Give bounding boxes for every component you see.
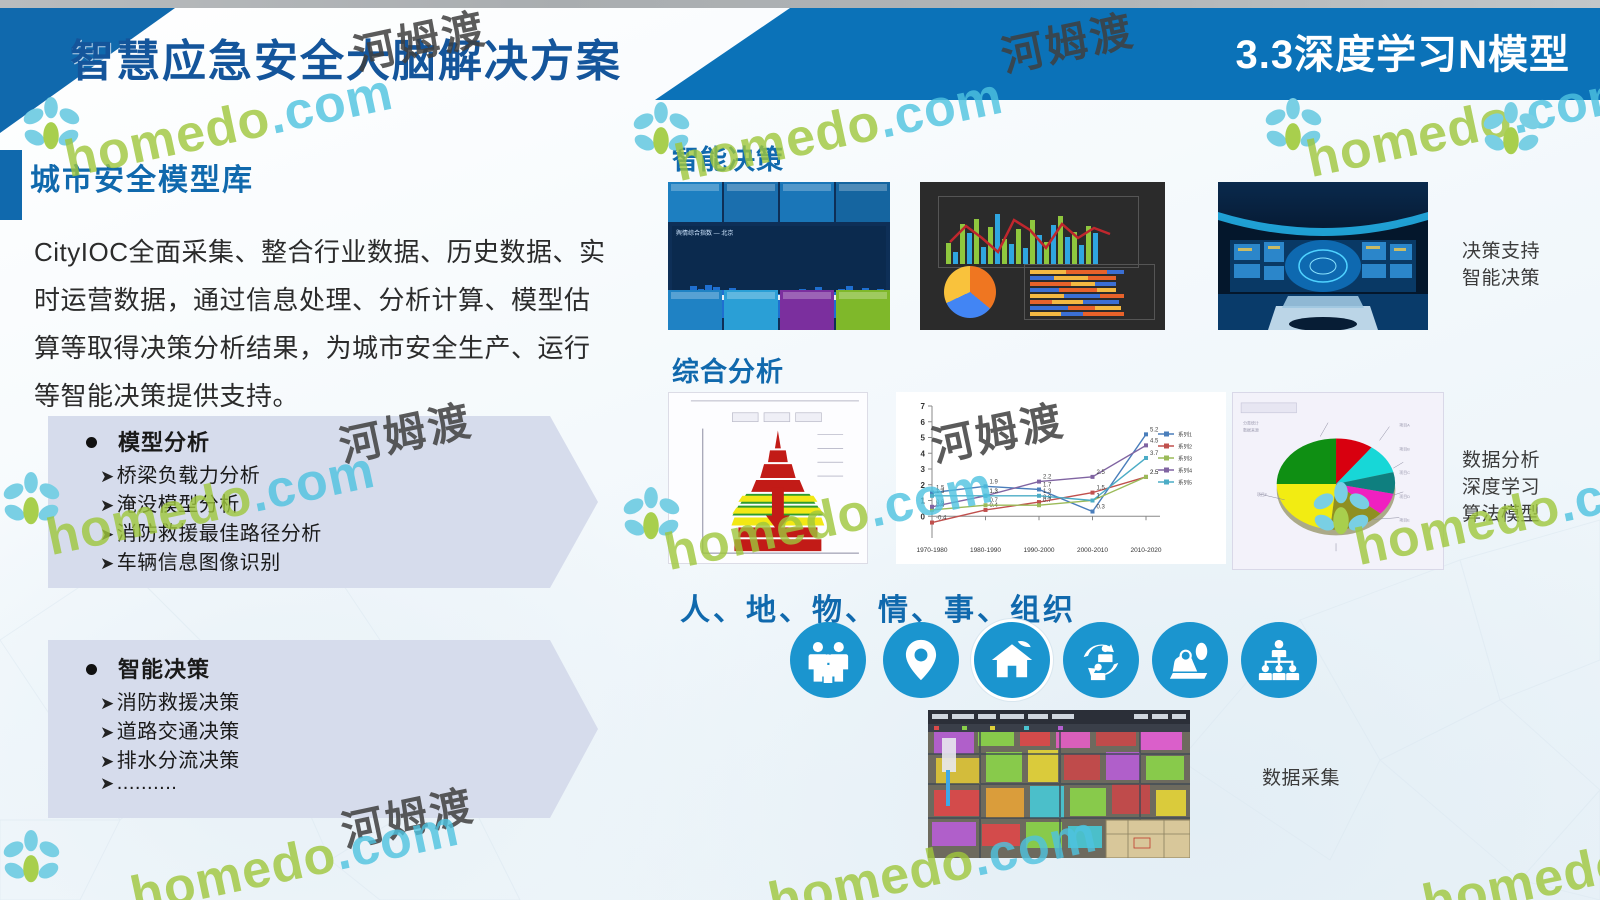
lead-paragraph: CityIOC全面采集、整合行业数据、历史数据、实时运营数据，通过信息处理、分析… (34, 228, 614, 420)
people-icon[interactable] (790, 622, 866, 698)
thumbnail-dark-analytics[interactable] (920, 182, 1165, 330)
person-desk-icon-glyph (1167, 637, 1213, 683)
svg-text:系列1: 系列1 (1178, 431, 1192, 439)
svg-text:0: 0 (921, 512, 926, 521)
svg-text:2.2: 2.2 (1043, 475, 1052, 481)
callout-item: ➤淹没模型分析 (100, 488, 240, 517)
svg-text:项目A: 项目A (1399, 423, 1410, 428)
callout-item-label: 排水分流决策 (117, 750, 240, 772)
svg-text:2000-2010: 2000-2010 (1077, 547, 1108, 554)
svg-text:4: 4 (921, 449, 926, 458)
svg-text:0.7: 0.7 (990, 498, 999, 504)
svg-text:分类统计: 分类统计 (1243, 421, 1259, 426)
svg-text:7: 7 (921, 402, 926, 411)
callout-item: ➤排水分流决策 (100, 744, 240, 773)
org-chart-icon-glyph (1256, 637, 1302, 683)
people-icon-glyph (805, 637, 851, 683)
callout-item: ➤消防救援最佳路径分析 (100, 517, 322, 546)
slide-root: 智慧应急安全大脑解决方案 3.3深度学习N模型 城市安全模型库 CityIOC全… (0, 0, 1600, 900)
bullet-dot (86, 664, 97, 675)
dashboard-chart-title: 舆情综合指数 — 北京 (676, 228, 733, 237)
callout-item-label: 桥梁负载力分析 (117, 465, 261, 487)
label-decision-support: 决策支持 智能决策 (1462, 238, 1540, 292)
svg-text:1.9: 1.9 (990, 479, 999, 485)
svg-text:项目F: 项目F (1257, 492, 1268, 497)
top-strip (0, 0, 1600, 8)
heading-comprehensive-analysis: 综合分析 (672, 350, 784, 389)
svg-text:0.7: 0.7 (1043, 498, 1052, 504)
org-chart-icon[interactable] (1241, 622, 1317, 698)
svg-text:系列3: 系列3 (1178, 455, 1192, 463)
svg-text:-0.4: -0.4 (936, 516, 947, 522)
heading-smart-decision: 智能决策 (672, 138, 784, 177)
svg-text:4.5: 4.5 (1150, 438, 1159, 444)
callout-item-label: 消防救援最佳路径分析 (117, 523, 322, 545)
map-pin-icon-glyph (898, 637, 944, 683)
thumbnail-pyramid-chart[interactable] (668, 392, 868, 564)
callout-title-smart-decision: 智能决策 (118, 652, 210, 684)
thumbnail-control-room[interactable] (1218, 182, 1428, 330)
thumbnail-3d-city-map[interactable] (928, 710, 1190, 858)
svg-text:1.3: 1.3 (990, 489, 999, 495)
svg-text:3: 3 (921, 465, 926, 474)
svg-text:项目D: 项目D (1399, 494, 1410, 499)
callout-item-label: 道路交通决策 (117, 721, 240, 743)
thumbnail-pie-chart[interactable]: 分类统计数据来源 项目A项目B 项目C项目D 项目E项目F (1232, 392, 1444, 570)
callout-title-model-analysis: 模型分析 (118, 425, 210, 457)
svg-text:2.5: 2.5 (1097, 470, 1106, 476)
svg-text:2010-2020: 2010-2020 (1130, 547, 1161, 554)
svg-text:系列4: 系列4 (1178, 467, 1192, 475)
svg-text:0.3: 0.3 (1097, 505, 1106, 511)
callout-item: ➤.......... (100, 772, 177, 795)
house-icon-glyph (989, 637, 1035, 683)
svg-text:1.3: 1.3 (1043, 489, 1052, 495)
label-data-analysis-line1: 数据分析 (1462, 447, 1540, 474)
label-deep-learning-line2: 深度学习 (1462, 474, 1540, 501)
heading-accent-bar (0, 150, 22, 220)
house-icon[interactable] (974, 622, 1050, 698)
svg-text:系列5: 系列5 (1178, 479, 1192, 487)
svg-text:1970-1980: 1970-1980 (916, 547, 947, 554)
label-algorithm-model-line3: 算法模型 (1462, 501, 1540, 528)
svg-text:项目B: 项目B (1399, 446, 1410, 451)
svg-text:1: 1 (921, 497, 926, 506)
svg-text:项目C: 项目C (1399, 470, 1410, 475)
cycle-people-icon[interactable] (1063, 622, 1139, 698)
svg-text:0.6: 0.6 (936, 500, 945, 506)
svg-text:2.5: 2.5 (1150, 470, 1159, 476)
callout-item-label: 淹没模型分析 (117, 494, 240, 516)
left-section-heading: 城市安全模型库 (30, 155, 254, 199)
svg-text:项目E: 项目E (1399, 518, 1410, 523)
page-title: 智慧应急安全大脑解决方案 (70, 25, 622, 89)
callout-item-label: .......... (117, 772, 178, 794)
callout-item-label: 消防救援决策 (117, 692, 240, 714)
bullet-dot (86, 437, 97, 448)
label-decision-support-line2: 智能决策 (1462, 265, 1540, 292)
callout-item: ➤桥梁负载力分析 (100, 459, 260, 488)
label-decision-support-line1: 决策支持 (1462, 238, 1540, 265)
svg-text:数据来源: 数据来源 (1243, 428, 1259, 433)
svg-text:1990-2000: 1990-2000 (1023, 547, 1054, 554)
svg-text:5.2: 5.2 (1150, 427, 1159, 433)
svg-text:1980-1990: 1980-1990 (970, 547, 1001, 554)
svg-text:3.7: 3.7 (1150, 451, 1159, 457)
section-number-title: 3.3深度学习N模型 (1236, 22, 1571, 80)
map-pin-icon[interactable] (883, 622, 959, 698)
person-desk-icon[interactable] (1152, 622, 1228, 698)
svg-text:系列2: 系列2 (1178, 443, 1192, 451)
thumbnail-blue-dashboard[interactable]: 舆情综合指数 — 北京 (668, 182, 890, 330)
cycle-people-icon-glyph (1078, 637, 1124, 683)
callout-item: ➤道路交通决策 (100, 715, 240, 744)
callout-item: ➤车辆信息图像识别 (100, 546, 281, 575)
callout-item-label: 车辆信息图像识别 (117, 552, 281, 574)
svg-text:2: 2 (921, 481, 926, 490)
svg-text:1.7: 1.7 (1043, 482, 1052, 488)
label-data-analysis: 数据分析 深度学习 算法模型 (1462, 447, 1540, 528)
svg-text:5: 5 (921, 434, 926, 443)
thumbnail-line-chart[interactable]: 012345671970-19801980-19901990-20002000-… (896, 392, 1226, 564)
callout-item: ➤消防救援决策 (100, 686, 240, 715)
label-data-collection: 数据采集 (1262, 765, 1340, 792)
svg-text:1.3: 1.3 (936, 489, 945, 495)
svg-text:6: 6 (921, 418, 926, 427)
